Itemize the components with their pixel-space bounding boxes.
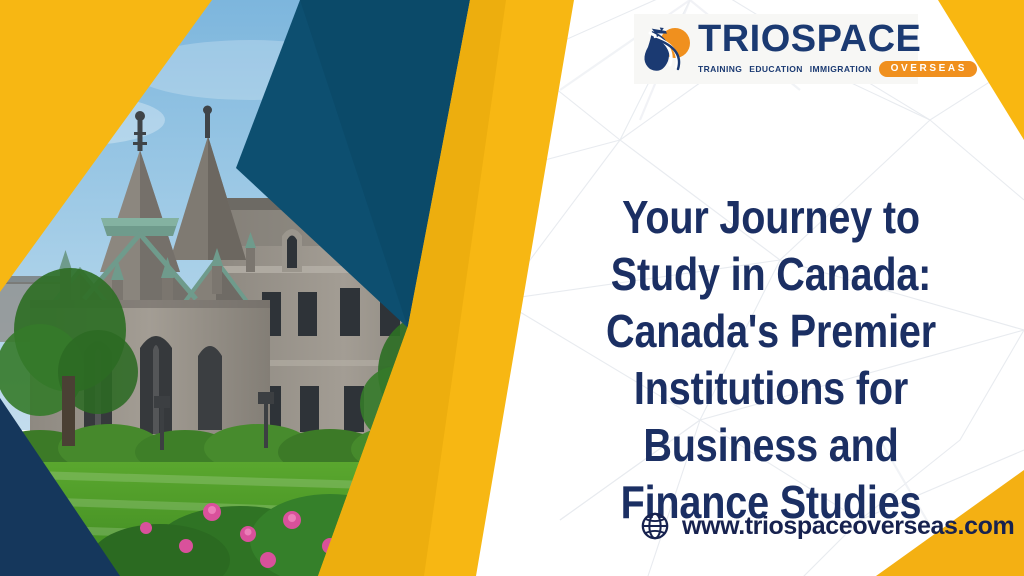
page-title: Your Journey to Study in Canada: Canada'…	[569, 189, 973, 531]
tagline-immigration: IMMIGRATION	[810, 64, 872, 74]
logo-wordmark: TRIOSPACE	[698, 21, 977, 57]
top-left-yellow-triangle	[0, 0, 212, 292]
website-url-text: www.triospaceoverseas.com	[682, 512, 1014, 541]
website-link[interactable]: www.triospaceoverseas.com	[640, 511, 1014, 541]
bottom-left-navy-wedge	[0, 398, 120, 576]
promotional-banner: TRIOSPACE TRAINING EDUCATION IMMIGRATION…	[0, 0, 1024, 576]
logo-tagline-row: TRAINING EDUCATION IMMIGRATION OVERSEAS	[698, 61, 977, 77]
tagline-training: TRAINING	[698, 64, 742, 74]
brand-logo[interactable]: TRIOSPACE TRAINING EDUCATION IMMIGRATION…	[634, 14, 918, 84]
overseas-badge: OVERSEAS	[879, 61, 977, 77]
globe-icon	[640, 511, 670, 541]
tagline-education: EDUCATION	[749, 64, 803, 74]
logo-text-block: TRIOSPACE TRAINING EDUCATION IMMIGRATION…	[698, 21, 977, 76]
swoosh-globe-airplane-icon	[640, 21, 696, 77]
